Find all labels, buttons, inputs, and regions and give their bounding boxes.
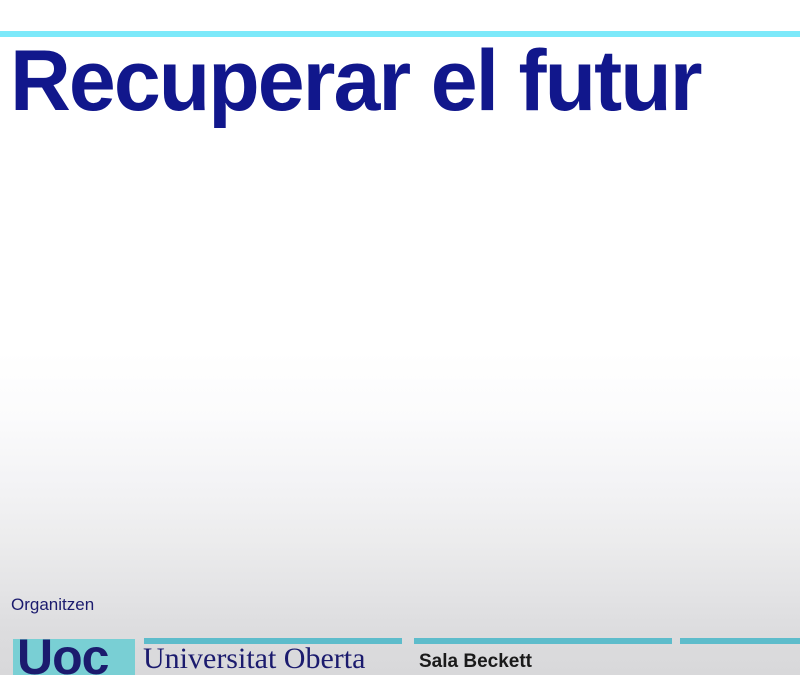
teal-rule-2: [414, 638, 672, 644]
page-title: Recuperar el futur: [10, 33, 784, 129]
teal-rule-3: [680, 638, 800, 644]
uoc-logo-name: Universitat Oberta: [143, 643, 365, 675]
sala-beckett-logo-name: Sala Beckett: [419, 651, 532, 673]
poster-footer: Organitzen Uoc Universitat Oberta Sala B…: [0, 595, 800, 675]
poster-canvas: Recuperar el futur Organitzen Uoc Univer…: [0, 0, 800, 675]
uoc-logo-letters: Uoc: [17, 639, 108, 675]
organizer-logo-row: Uoc Universitat Oberta Sala Beckett: [0, 637, 800, 675]
uoc-logo-mark: Uoc: [13, 639, 135, 675]
organizers-label: Organitzen: [11, 595, 94, 615]
